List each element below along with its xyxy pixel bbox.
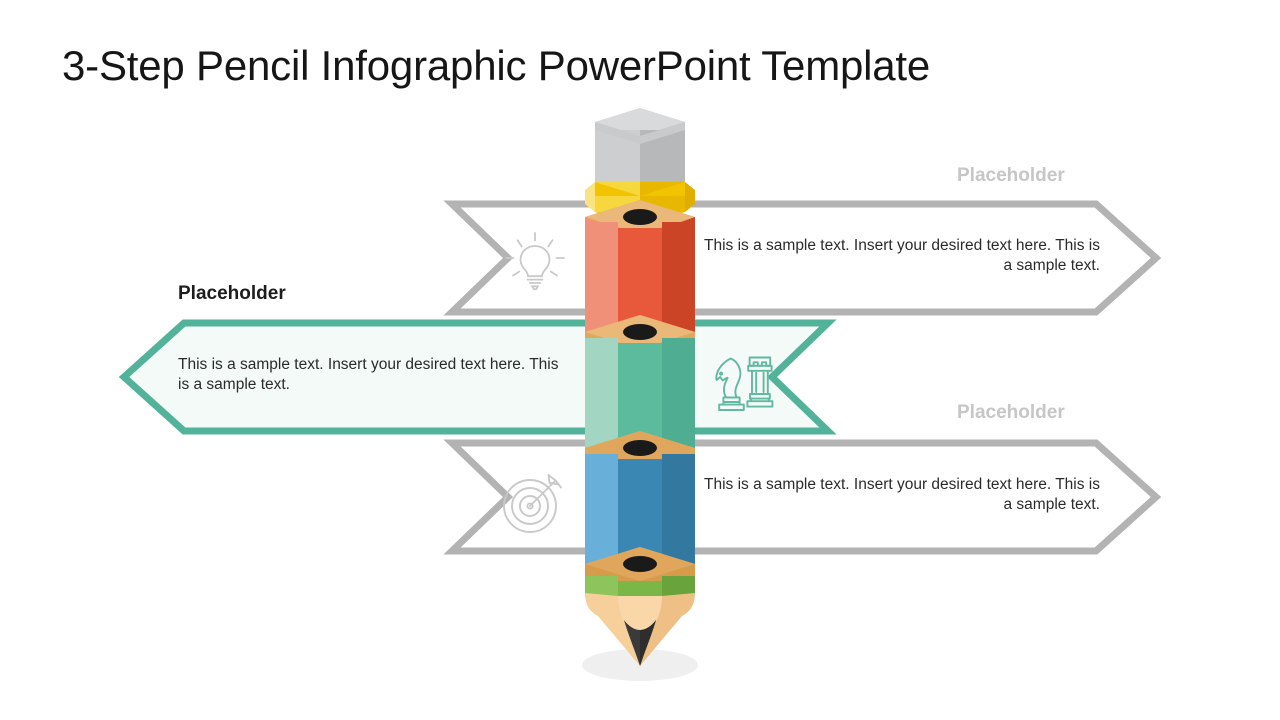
pencil-hole <box>623 556 657 572</box>
section-body-top: This is a sample text. Insert your desir… <box>700 236 1100 276</box>
section-caption-top: Placeholder <box>957 165 1065 187</box>
pencil-segment-red <box>585 200 695 334</box>
page-title: 3-Step Pencil Infographic PowerPoint Tem… <box>62 42 930 90</box>
pencil-tip <box>585 547 695 666</box>
pencil-hole <box>623 209 657 225</box>
pencil-graphic <box>540 100 740 700</box>
section-body-middle: This is a sample text. Insert your desir… <box>178 355 568 395</box>
pencil-eraser <box>595 108 685 182</box>
pencil-segment-teal <box>585 315 695 448</box>
pencil-segment-blue <box>585 431 695 564</box>
section-body-bottom: This is a sample text. Insert your desir… <box>700 475 1100 515</box>
section-caption-bottom: Placeholder <box>957 402 1065 424</box>
slide-canvas: 3-Step Pencil Infographic PowerPoint Tem… <box>0 0 1280 720</box>
pencil-hole <box>623 324 657 340</box>
pencil-hole <box>623 440 657 456</box>
section-caption-middle: Placeholder <box>178 283 286 305</box>
